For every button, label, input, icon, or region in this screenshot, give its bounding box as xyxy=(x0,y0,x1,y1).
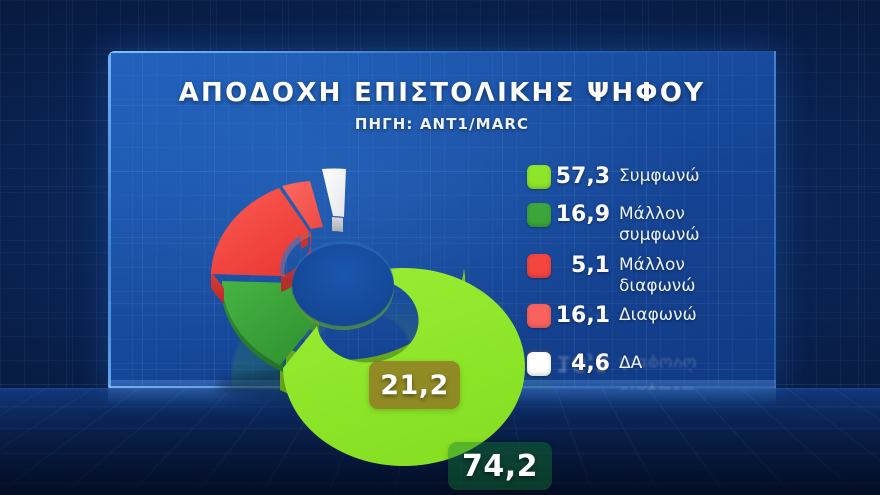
legend-item-disagree: 16,1 Διαφωνώ xyxy=(527,302,827,329)
pie-chart: 21,2 74,2 xyxy=(165,158,520,403)
legend-swatch-rather-agree xyxy=(527,203,551,227)
legend-item-rather-agree: 16,9 Μάλλον συμφωνώ xyxy=(527,201,827,246)
legend-value-rather-disagree: 5,1 xyxy=(551,252,619,279)
panel-edge-top xyxy=(108,51,776,53)
legend-item-no-answer: 4,6 ΔΑ xyxy=(527,350,827,377)
legend-label-line1: Μάλλον xyxy=(619,204,685,224)
legend-label-line1: ΔΑ xyxy=(619,353,642,373)
legend-swatch-disagree xyxy=(527,304,551,328)
pie-chart-svg xyxy=(165,158,520,403)
legend-label-line1: Διαφωνώ xyxy=(619,305,697,325)
legend-value-agree: 57,3 xyxy=(551,163,619,190)
legend-value-no-answer: 4,6 xyxy=(551,350,619,377)
legend-swatch-no-answer xyxy=(527,352,551,376)
legend-label-agree: Συμφωνώ xyxy=(619,163,700,187)
legend-label-line2: συμφωνώ xyxy=(619,225,700,246)
legend-label-disagree: Διαφωνώ xyxy=(619,302,697,326)
data-label-agree-total: 74,2 xyxy=(448,442,552,490)
legend-item-agree: 57,3 Συμφωνώ xyxy=(527,163,827,190)
legend-swatch-agree xyxy=(527,165,551,189)
broadcast-graphic-stage: 57,3Συμφωνώ 16,9Μάλλονσυμφωνώ 5,1Μάλλονδ… xyxy=(0,0,880,495)
legend-label-rather-disagree: Μάλλον διαφωνώ xyxy=(619,252,696,297)
slice-no-answer xyxy=(322,169,346,217)
source-label: ΠΗΓΗ: ΑΝΤ1/MARC xyxy=(108,115,776,133)
legend-swatch-rather-disagree xyxy=(527,254,551,278)
legend-label-line1: Συμφωνώ xyxy=(619,166,700,186)
legend-item-rather-disagree: 5,1 Μάλλον διαφωνώ xyxy=(527,252,827,297)
legend-label-line2: διαφωνώ xyxy=(619,276,696,297)
chart-legend: 57,3 Συμφωνώ 16,9 Μάλλον συμφωνώ 5,1 Μάλ… xyxy=(527,163,827,383)
data-label-disagree-total: 21,2 xyxy=(369,361,460,409)
legend-value-disagree: 16,1 xyxy=(551,302,619,329)
legend-label-rather-agree: Μάλλον συμφωνώ xyxy=(619,201,700,246)
legend-value-rather-agree: 16,9 xyxy=(551,201,619,228)
legend-label-line1: Μάλλον xyxy=(619,255,685,275)
title-block: ΑΠΟΔΟΧΗ ΕΠΙΣΤΟΛΙΚΗΣ ΨΗΦΟΥ ΠΗΓΗ: ΑΝΤ1/MAR… xyxy=(108,78,776,133)
legend-label-no-answer: ΔΑ xyxy=(619,350,642,374)
page-title: ΑΠΟΔΟΧΗ ΕΠΙΣΤΟΛΙΚΗΣ ΨΗΦΟΥ xyxy=(108,78,776,108)
